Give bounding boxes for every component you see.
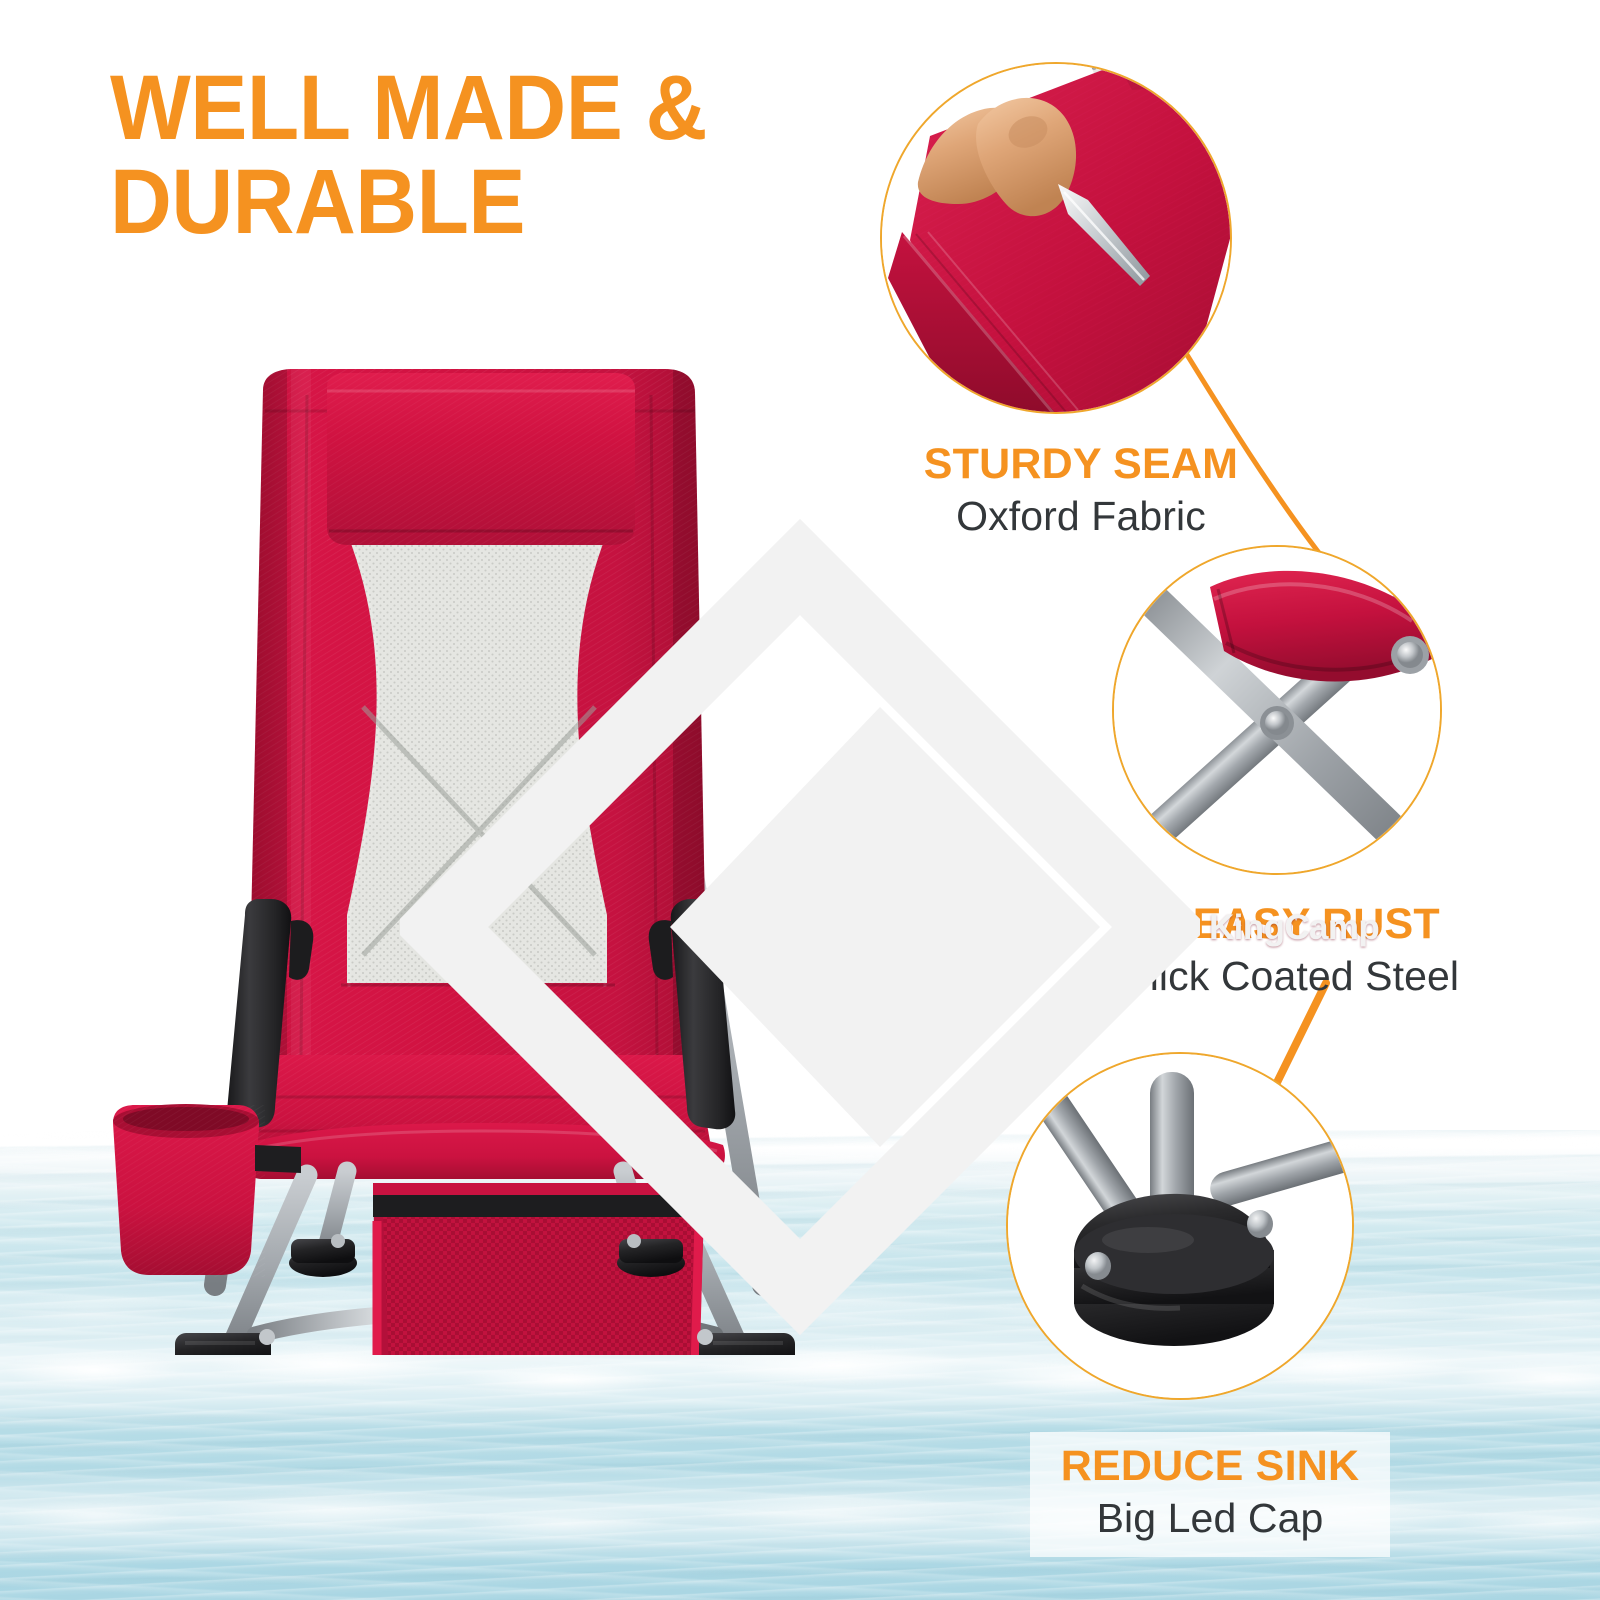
infographic-canvas: WELL MADE & DURABLE xyxy=(0,0,1600,1600)
product-image-beach-chair: KingCamp xyxy=(95,355,895,1355)
feature-subtitle-reduce-sink: Big Led Cap xyxy=(1044,1494,1376,1543)
inset-steel-joint-illustration xyxy=(1114,547,1442,875)
page-title: WELL MADE & DURABLE xyxy=(110,62,873,250)
chair-illustration xyxy=(95,355,895,1355)
feature-title-reduce-sink: REDUCE SINK xyxy=(1044,1442,1376,1490)
callout-circle-uneasy-rust xyxy=(1112,545,1442,875)
chair-headrest-pillow xyxy=(327,373,635,545)
foot-cap-rear-right xyxy=(617,1234,685,1277)
callout-circle-reduce-sink xyxy=(1006,1052,1354,1400)
inset-foot-cap-illustration xyxy=(1008,1054,1354,1400)
feature-title-uneasy-rust: UNEASY RUST xyxy=(1110,900,1460,948)
callout-circle-sturdy-seam xyxy=(880,62,1232,414)
foot-cap-rear-left xyxy=(289,1234,357,1277)
feature-title-sturdy-seam: STURDY SEAM xyxy=(916,440,1246,488)
inset-fabric-blade-illustration xyxy=(882,64,1232,414)
chair-seat xyxy=(239,1053,725,1179)
feature-label-sturdy-seam: STURDY SEAM Oxford Fabric xyxy=(916,440,1246,541)
feature-subtitle-sturdy-seam: Oxford Fabric xyxy=(916,492,1246,541)
feature-subtitle-uneasy-rust: Thick Coated Steel xyxy=(1110,952,1460,1001)
feature-label-reduce-sink: REDUCE SINK Big Led Cap xyxy=(1030,1432,1390,1557)
feature-label-uneasy-rust: UNEASY RUST Thick Coated Steel xyxy=(1110,900,1460,1001)
